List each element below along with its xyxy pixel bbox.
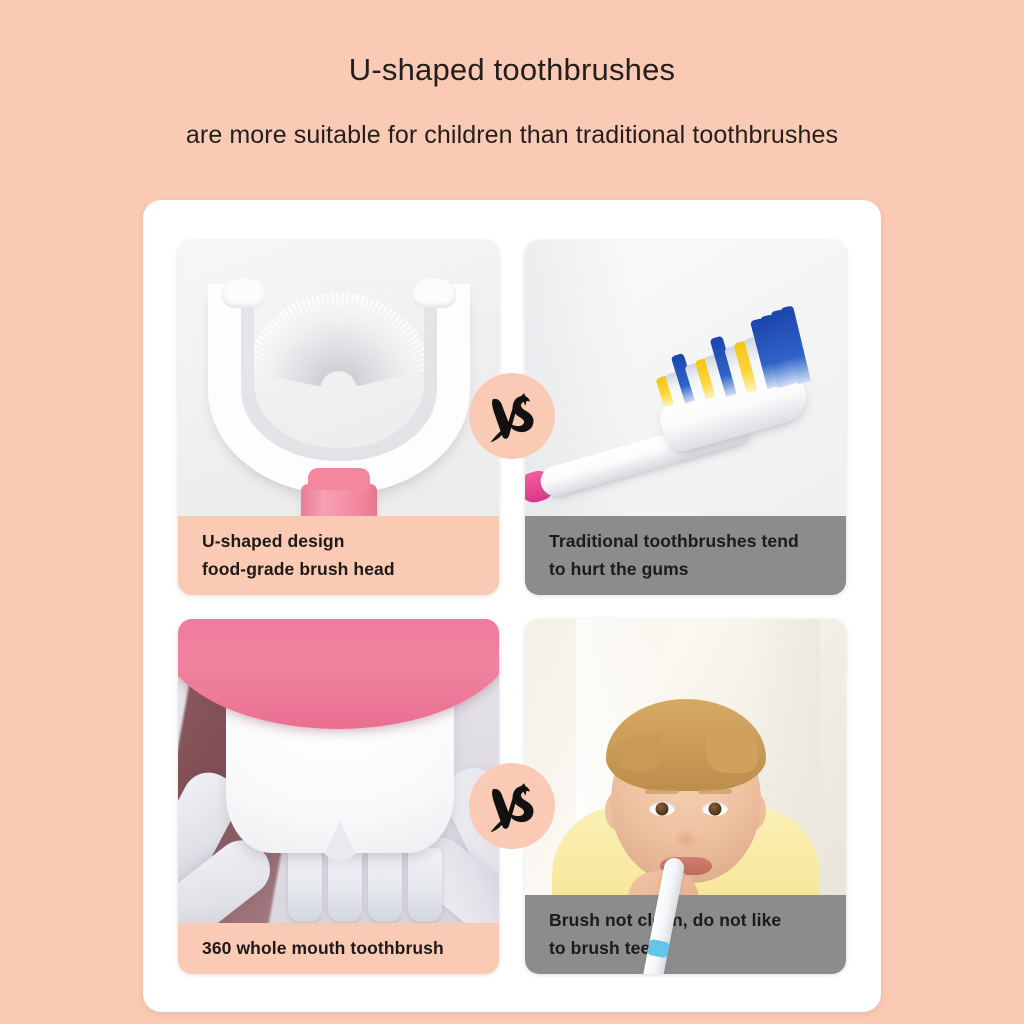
caption-line-1: U-shaped design <box>202 527 479 555</box>
vs-icon <box>482 386 542 446</box>
panel-traditional-toothbrush[interactable]: Traditional toothbrushes tend to hurt th… <box>525 240 846 595</box>
caption-line-2: to hurt the gums <box>549 555 826 583</box>
panel-caption: 360 whole mouth toothbrush <box>178 923 499 974</box>
comparison-grid: U-shaped design food-grade brush head Tr… <box>178 240 846 974</box>
vs-badge-bottom <box>469 763 555 849</box>
panel-caption: Traditional toothbrushes tend to hurt th… <box>525 516 846 595</box>
comparison-card: U-shaped design food-grade brush head Tr… <box>143 200 881 1012</box>
panel-360-whole-mouth[interactable]: 360 whole mouth toothbrush <box>178 619 499 974</box>
caption-line-2: food-grade brush head <box>202 555 479 583</box>
u-shaped-brush-head-icon <box>208 284 470 494</box>
caption-line-1: Traditional toothbrushes tend <box>549 527 826 555</box>
page-title: U-shaped toothbrushes <box>0 52 1024 88</box>
page-subtitle: are more suitable for children than trad… <box>0 120 1024 150</box>
panel-caption: U-shaped design food-grade brush head <box>178 516 499 595</box>
headings-block: U-shaped toothbrushes are more suitable … <box>0 0 1024 190</box>
child-eye <box>702 801 728 816</box>
caption-line-2: to brush teeth <box>549 934 826 962</box>
child-eyebrow <box>698 789 732 794</box>
caption-line-1: 360 whole mouth toothbrush <box>202 934 479 962</box>
panel-child-not-brushing[interactable]: Brush not clean, do not like to brush te… <box>525 619 846 974</box>
child-eye <box>649 801 675 816</box>
vs-icon <box>482 776 542 836</box>
child-nose <box>671 823 701 847</box>
caption-line-1: Brush not clean, do not like <box>549 906 826 934</box>
vs-badge-top <box>469 373 555 459</box>
child-eyebrow <box>645 789 679 794</box>
panel-caption: Brush not clean, do not like to brush te… <box>525 895 846 974</box>
panel-u-shaped-brush-head[interactable]: U-shaped design food-grade brush head <box>178 240 499 595</box>
